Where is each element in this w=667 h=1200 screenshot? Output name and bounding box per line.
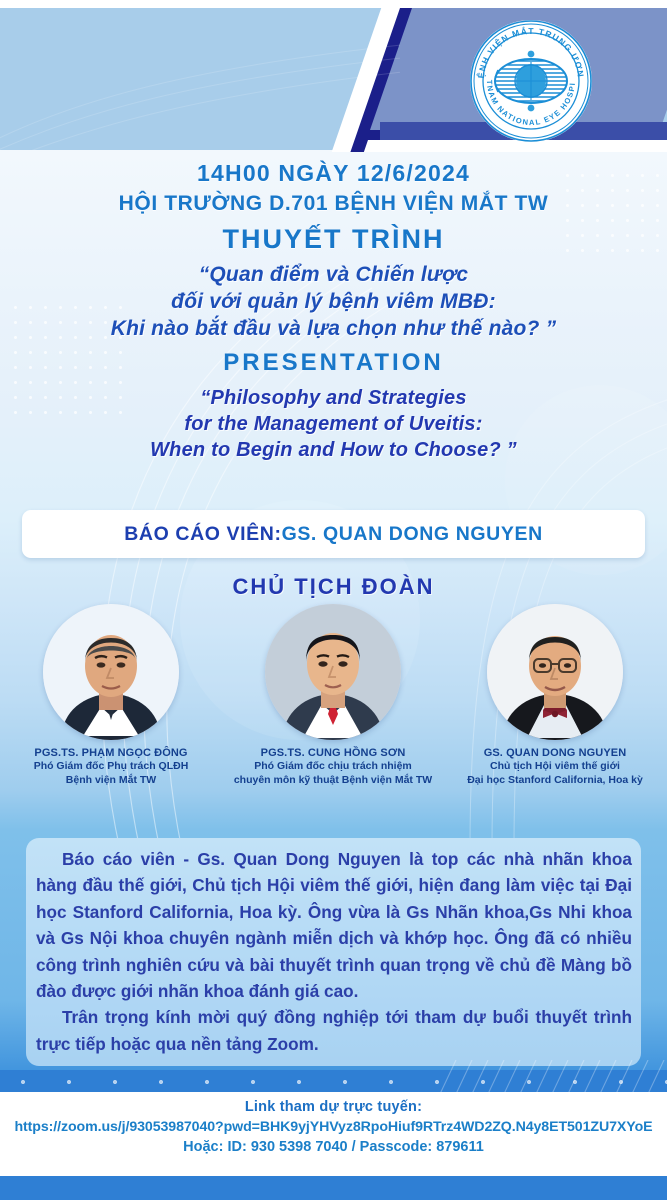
topic-vn-line-1: “Quan điểm và Chiến lược xyxy=(0,261,667,288)
poster-header: BỆNH VIỆN MẮT TRUNG ƯƠNG VIETNAM NATIONA… xyxy=(0,0,667,152)
speaker-name: GS. QUAN DONG NGUYEN xyxy=(282,523,543,546)
presentation-heading-vn: THUYẾT TRÌNH xyxy=(0,219,667,259)
event-datetime: 14H00 NGÀY 12/6/2024 xyxy=(0,158,667,189)
chair-member: GS. QUAN DONG NGUYEN Chủ tịch Hội viêm t… xyxy=(444,604,666,787)
portrait-cung-hong-son xyxy=(265,604,401,740)
chair-member-name: GS. QUAN DONG NGUYEN xyxy=(444,746,666,760)
chair-member-name: PGS.TS. PHẠM NGỌC ĐÔNG xyxy=(0,746,222,760)
footer-bottom-band xyxy=(0,1176,667,1200)
speaker-banner: BÁO CÁO VIÊN: GS. QUAN DONG NGUYEN xyxy=(22,510,645,558)
chair-member-role-2: Bệnh viện Mắt TW xyxy=(0,774,222,788)
topic-en-line-1: “Philosophy and Strategies xyxy=(0,385,667,411)
chair-member: PGS.TS. PHẠM NGỌC ĐÔNG Phó Giám đốc Phụ … xyxy=(0,604,222,787)
presentation-heading-en: PRESENTATION xyxy=(0,342,667,384)
hospital-logo: BỆNH VIỆN MẮT TRUNG ƯƠNG VIETNAM NATIONA… xyxy=(468,18,594,144)
topic-vn-line-2: đối với quản lý bệnh viêm MBĐ: xyxy=(0,288,667,315)
chair-member-role-1: Chủ tịch Hội viêm thế giới xyxy=(444,760,666,774)
portrait-quan-dong-nguyen xyxy=(487,604,623,740)
footer-heading: Link tham dự trực tuyến: xyxy=(0,1092,667,1115)
title-block: 14H00 NGÀY 12/6/2024 HỘI TRƯỜNG D.701 BỆ… xyxy=(0,158,667,463)
description-text: Báo cáo viên - Gs. Quan Dong Nguyen là t… xyxy=(36,846,632,1057)
avatar xyxy=(487,604,623,740)
chair-section-title: CHỦ TỊCH ĐOÀN xyxy=(0,574,667,600)
chair-member: PGS.TS. CUNG HỒNG SƠN Phó Giám đốc chịu … xyxy=(222,604,444,787)
topic-en-line-3: When to Begin and How to Choose? ” xyxy=(0,437,667,463)
topic-vn: “Quan điểm và Chiến lược đối với quản lý… xyxy=(0,261,667,342)
chair-member-role-1: Phó Giám đốc chịu trách nhiệm xyxy=(222,760,444,774)
topic-en: “Philosophy and Strategies for the Manag… xyxy=(0,385,667,463)
topic-en-line-2: for the Management of Uveitis: xyxy=(0,411,667,437)
footer-link-block: Link tham dự trực tuyến: https://zoom.us… xyxy=(0,1092,667,1176)
description-paragraph-2: Trân trọng kính mời quý đồng nghiệp tới … xyxy=(36,1004,632,1057)
topic-vn-line-3: Khi nào bắt đầu và lựa chọn như thế nào?… xyxy=(0,315,667,342)
chair-member-name: PGS.TS. CUNG HỒNG SƠN xyxy=(222,746,444,760)
footer-dot-pattern xyxy=(0,1076,667,1088)
chair-member-role-2: chuyên môn kỹ thuật Bệnh viện Mắt TW xyxy=(222,774,444,788)
chair-member-role-2: Đại học Stanford California, Hoa kỳ xyxy=(444,774,666,788)
zoom-id-passcode: Hoặc: ID: 930 5398 7040 / Passcode: 8796… xyxy=(0,1135,667,1155)
conference-poster: BỆNH VIỆN MẮT TRUNG ƯƠNG VIETNAM NATIONA… xyxy=(0,0,667,1200)
avatar xyxy=(265,604,401,740)
chair-members-list: PGS.TS. PHẠM NGỌC ĐÔNG Phó Giám đốc Phụ … xyxy=(0,604,667,787)
chair-member-role-1: Phó Giám đốc Phụ trách QLĐH xyxy=(0,760,222,774)
zoom-link[interactable]: https://zoom.us/j/93053987040?pwd=BHK9yj… xyxy=(0,1115,667,1135)
avatar xyxy=(43,604,179,740)
portrait-pham-ngoc-dong xyxy=(43,604,179,740)
event-venue: HỘI TRƯỜNG D.701 BỆNH VIỆN MẮT TW xyxy=(0,189,667,219)
speaker-label: BÁO CÁO VIÊN: xyxy=(124,523,281,546)
description-paragraph-1: Báo cáo viên - Gs. Quan Dong Nguyen là t… xyxy=(36,846,632,1004)
